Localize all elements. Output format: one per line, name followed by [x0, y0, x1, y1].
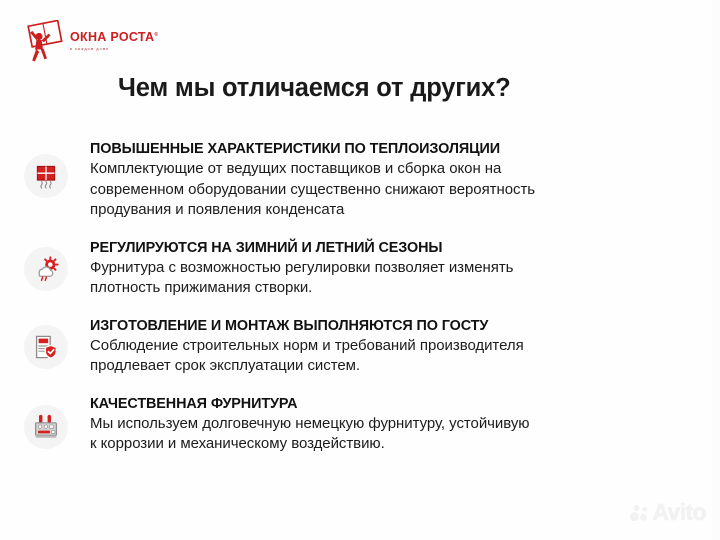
sun-cloud-weather-icon: [24, 247, 68, 291]
page-title: Чем мы отличаемся от других?: [118, 74, 511, 103]
feature-body-line: современном оборудовании существенно сни…: [90, 180, 684, 201]
list-item: КАЧЕСТВЕННАЯ ФУРНИТУРА Мы используем дол…: [0, 395, 720, 455]
feature-heading: РЕГУЛИРУЮТСЯ НА ЗИМНИЙ И ЛЕТНИЙ СЕЗОНЫ: [90, 239, 684, 257]
feature-body: Комплектующие от ведущих поставщиков и с…: [90, 159, 684, 221]
brand-logo: ОКНА РОСТА® в каждом доме: [22, 20, 152, 66]
feature-body-line: продлевает срок эксплуатации систем.: [90, 356, 684, 377]
feature-body-line: к коррозии и механическому воздействию.: [90, 434, 684, 455]
radiator-heat-icon: [24, 154, 68, 198]
feature-body-line: плотность прижимания створки.: [90, 278, 684, 299]
brand-name: ОКНА РОСТА®: [70, 29, 152, 44]
window-hardware-fittings-icon: [24, 405, 68, 449]
brand-wordmark: ОКНА РОСТА® в каждом доме: [70, 29, 152, 51]
list-item: РЕГУЛИРУЮТСЯ НА ЗИМНИЙ И ЛЕТНИЙ СЕЗОНЫ Ф…: [0, 239, 720, 299]
feature-heading: ПОВЫШЕННЫЕ ХАРАКТЕРИСТИКИ ПО ТЕПЛОИЗОЛЯЦ…: [90, 140, 684, 158]
list-item: ПОВЫШЕННЫЕ ХАРАКТЕРИСТИКИ ПО ТЕПЛОИЗОЛЯЦ…: [0, 140, 720, 221]
avito-watermark: Avito: [629, 501, 706, 524]
avito-dots-icon: [629, 503, 649, 523]
feature-body-line: продувания и появления конденсата: [90, 200, 684, 221]
avito-label: Avito: [652, 501, 706, 524]
feature-body: Фурнитура с возможностью регулировки поз…: [90, 258, 684, 299]
man-holding-window-icon: [22, 20, 68, 62]
feature-body-line: Фурнитура с возможностью регулировки поз…: [90, 258, 684, 279]
feature-body-line: Комплектующие от ведущих поставщиков и с…: [90, 159, 684, 180]
feature-body: Мы используем долговечную немецкую фурни…: [90, 414, 684, 455]
feature-body: Соблюдение строительных норм и требовани…: [90, 336, 684, 377]
feature-heading: ИЗГОТОВЛЕНИЕ И МОНТАЖ ВЫПОЛНЯЮТСЯ ПО ГОС…: [90, 317, 684, 335]
document-shield-check-icon: [24, 325, 68, 369]
list-item: ИЗГОТОВЛЕНИЕ И МОНТАЖ ВЫПОЛНЯЮТСЯ ПО ГОС…: [0, 317, 720, 377]
promo-card: ОКНА РОСТА® в каждом доме Чем мы отличае…: [0, 0, 720, 540]
feature-list: ПОВЫШЕННЫЕ ХАРАКТЕРИСТИКИ ПО ТЕПЛОИЗОЛЯЦ…: [0, 140, 720, 473]
feature-body-line: Соблюдение строительных норм и требовани…: [90, 336, 684, 357]
feature-body-line: Мы используем долговечную немецкую фурни…: [90, 414, 684, 435]
brand-tagline: в каждом доме: [70, 47, 152, 51]
feature-heading: КАЧЕСТВЕННАЯ ФУРНИТУРА: [90, 395, 684, 413]
